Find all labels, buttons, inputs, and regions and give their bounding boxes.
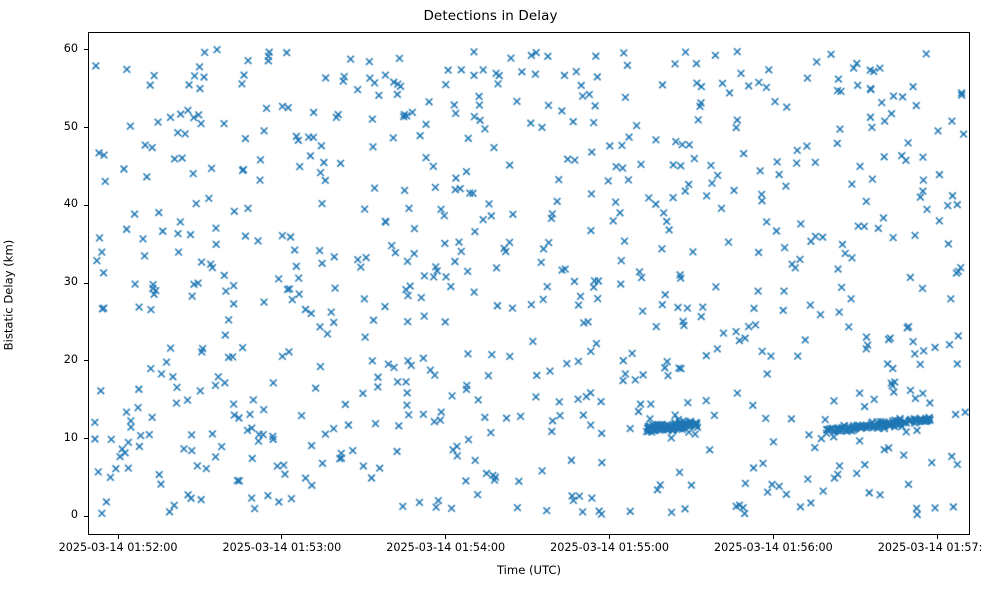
y-tick-label: 20: [0, 353, 78, 366]
y-tick-mark: [84, 205, 88, 206]
y-tick-label: 10: [0, 431, 78, 444]
chart-title: Detections in Delay: [0, 8, 981, 24]
x-tick-label: 2025-03-14 01:54:00: [386, 541, 505, 554]
x-tick-label: 2025-03-14 01:52:00: [59, 541, 178, 554]
x-tick-label: 2025-03-14 01:55:00: [550, 541, 669, 554]
y-tick-mark: [84, 127, 88, 128]
x-tick-label: 2025-03-14 01:53:00: [222, 541, 341, 554]
figure: Detections in Delay 0102030405060 2025-0…: [0, 0, 981, 590]
x-tick-mark: [773, 535, 774, 539]
y-tick-mark: [84, 283, 88, 284]
y-tick-mark: [84, 438, 88, 439]
y-tick-label: 60: [0, 42, 78, 55]
y-tick-mark: [84, 360, 88, 361]
x-tick-label: 2025-03-14 01:57:00: [878, 541, 981, 554]
y-tick-mark: [84, 516, 88, 517]
y-tick-label: 40: [0, 197, 78, 210]
x-tick-mark: [445, 535, 446, 539]
y-axis-label: Bistatic Delay (km): [0, 0, 18, 590]
x-tick-label: 2025-03-14 01:56:00: [714, 541, 833, 554]
y-axis-label-text: Bistatic Delay (km): [1, 240, 15, 351]
x-axis-label: Time (UTC): [88, 563, 970, 577]
y-tick-label: 50: [0, 120, 78, 133]
x-tick-mark: [118, 535, 119, 539]
y-tick-label: 0: [0, 508, 78, 521]
y-tick-mark: [84, 49, 88, 50]
plot-area: [88, 32, 970, 535]
x-tick-mark: [937, 535, 938, 539]
x-tick-mark: [609, 535, 610, 539]
y-tick-label: 30: [0, 275, 78, 288]
scatter-canvas: [89, 33, 970, 535]
x-tick-mark: [281, 535, 282, 539]
